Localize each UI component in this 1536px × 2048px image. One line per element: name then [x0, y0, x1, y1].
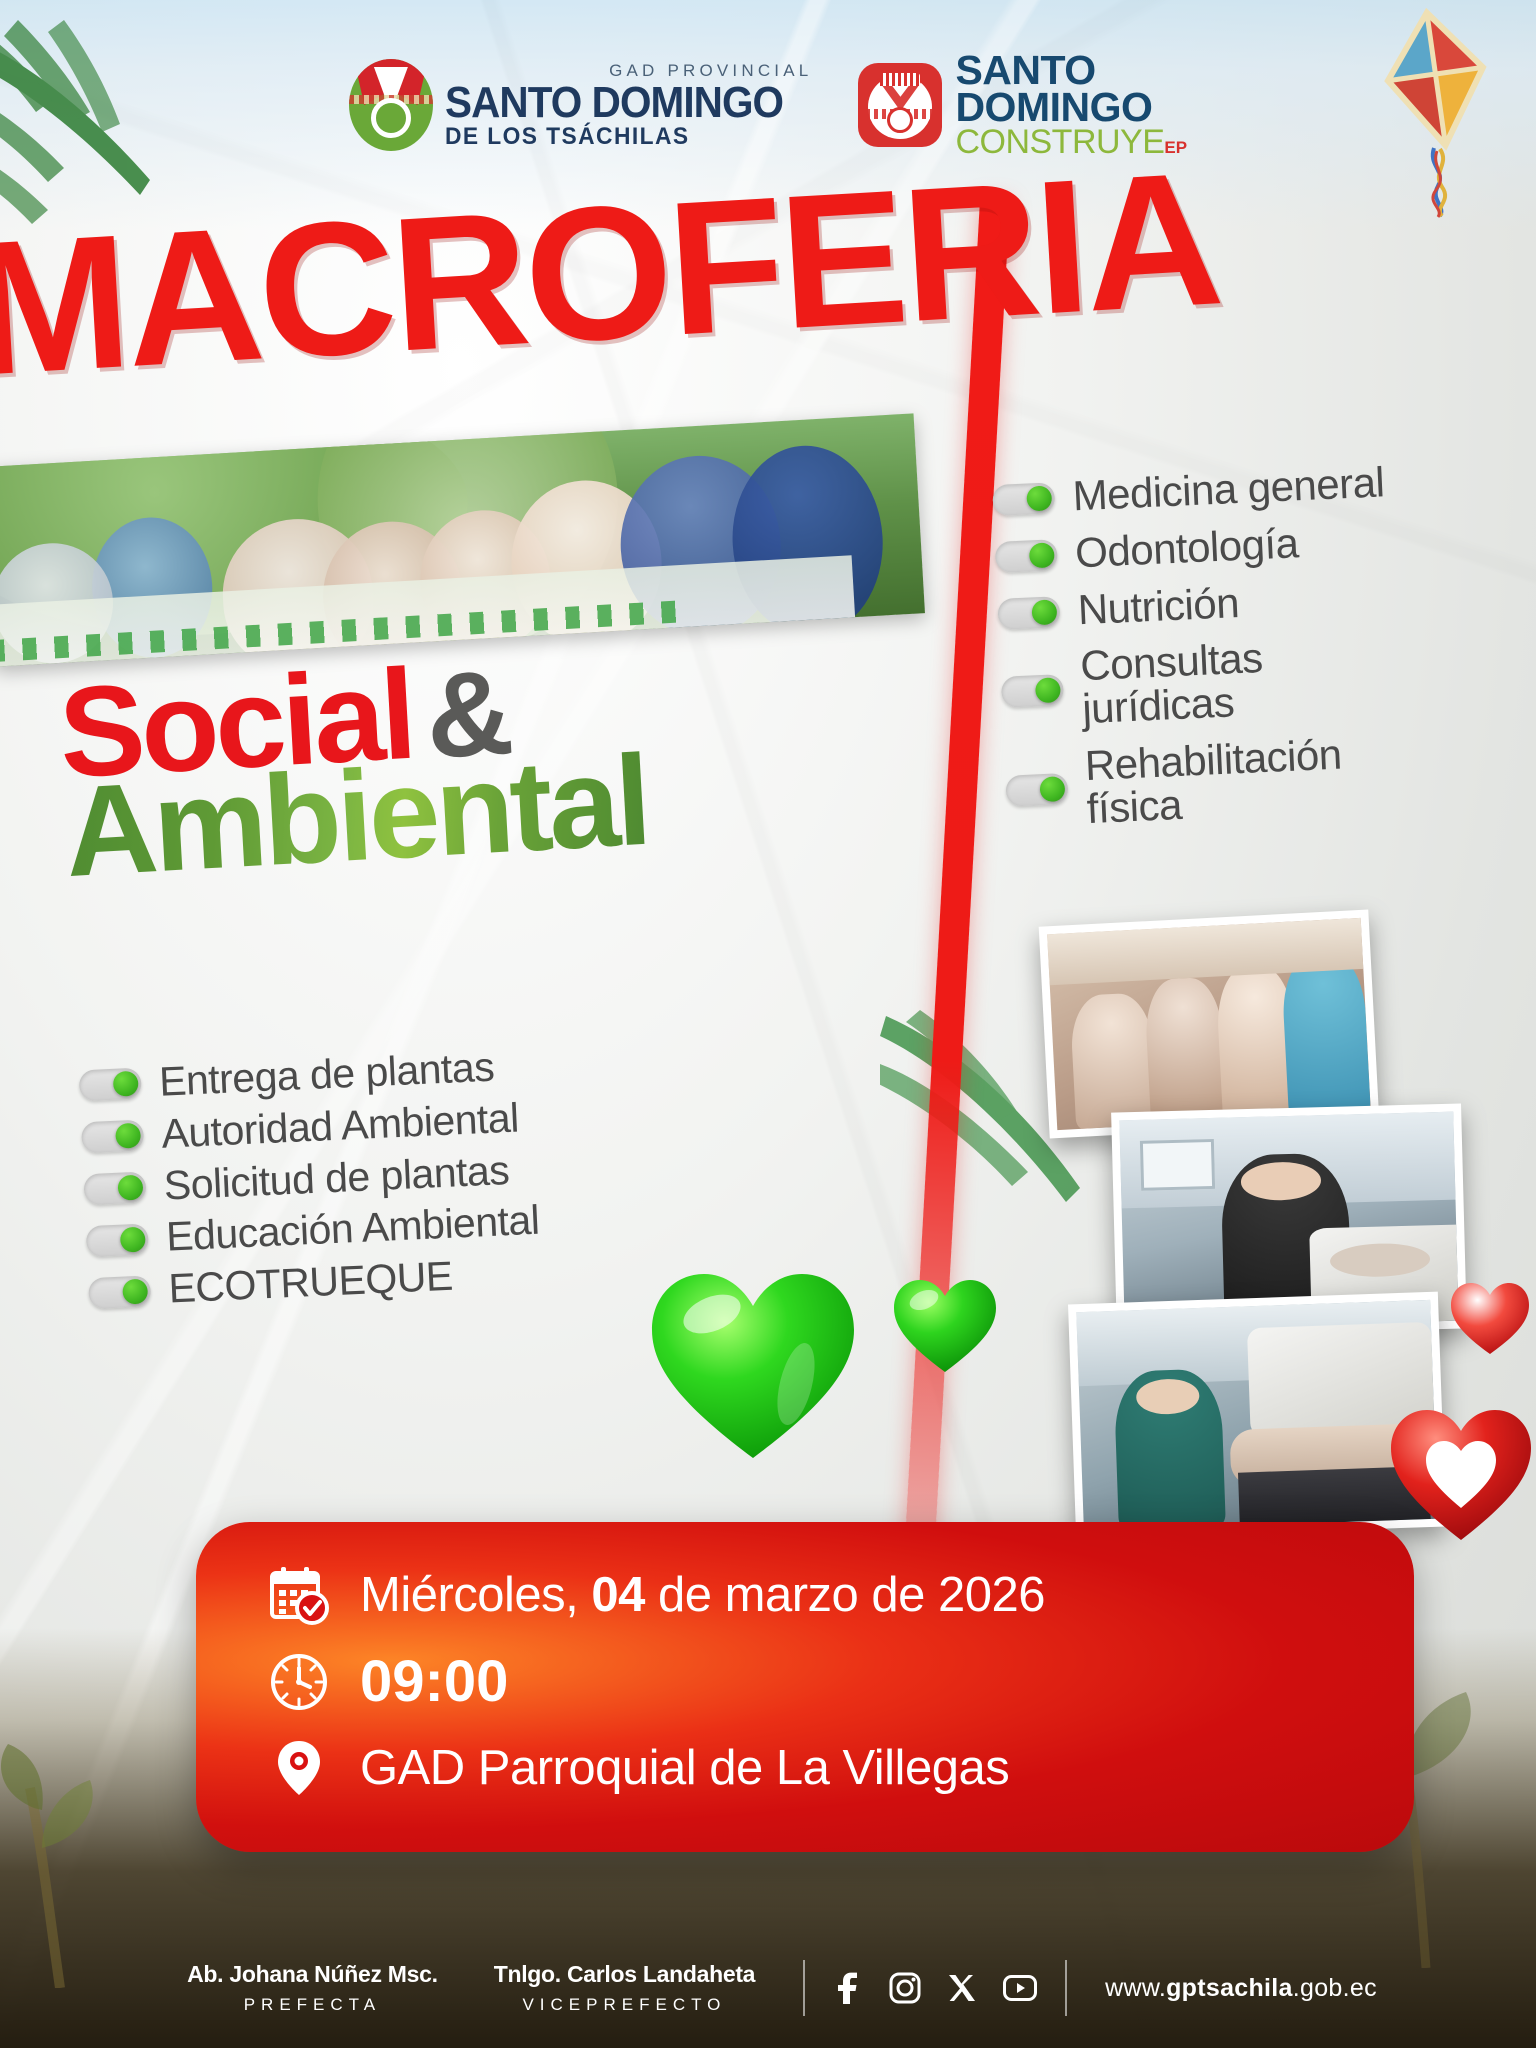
- toggle-switch-on-icon[interactable]: [81, 1120, 144, 1154]
- service-label: Medicina general: [1072, 461, 1385, 518]
- event-date-row: Miércoles, 04 de marzo de 2026: [268, 1564, 1414, 1626]
- green-heart-small-icon: [890, 1276, 1000, 1376]
- sdc-line2: DOMINGO: [955, 89, 1187, 127]
- footer-social-icons: [825, 1972, 1045, 2004]
- subtitle-ambiental: Ambiental: [62, 743, 650, 891]
- sdc-ep-suffix: EP: [1164, 138, 1187, 157]
- sdc-line3: CONSTRUYE: [955, 123, 1164, 161]
- toggle-switch-on-icon[interactable]: [88, 1275, 151, 1309]
- header-logos: GAD PROVINCIAL SANTO DOMINGO DE LOS TSÁC…: [0, 50, 1536, 160]
- event-location-row: GAD Parroquial de La Villegas: [268, 1737, 1414, 1799]
- url-domain: gptsachila: [1166, 1974, 1293, 2002]
- red-white-heart-icon: [1386, 1404, 1536, 1546]
- list-item[interactable]: Odontología: [994, 518, 1387, 579]
- footer-prefecta: Ab. Johana Núñez Msc. PREFECTA: [159, 1961, 466, 2015]
- youtube-icon[interactable]: [1003, 1975, 1037, 2001]
- facebook-icon[interactable]: [833, 1972, 863, 2004]
- event-date-text: Miércoles, 04 de marzo de 2026: [360, 1567, 1045, 1623]
- list-item[interactable]: Consultas jurídicas: [1000, 632, 1395, 735]
- toggle-switch-on-icon[interactable]: [79, 1068, 142, 1102]
- green-heart-large-icon: [646, 1266, 861, 1466]
- photo-card-seniors: [1039, 910, 1380, 1139]
- environmental-services-list: Entrega de plantas Autoridad Ambiental S…: [78, 1045, 543, 1324]
- date-day: 04: [591, 1568, 645, 1622]
- date-prefix: Miércoles,: [360, 1568, 591, 1622]
- prefecta-role: PREFECTA: [187, 1995, 438, 2015]
- gad-subtitle: GAD PROVINCIAL: [445, 62, 813, 79]
- footer-website-url[interactable]: www.gptsachila.gob.ec: [1087, 1974, 1377, 2003]
- list-item[interactable]: ECOTRUEQUE: [88, 1252, 543, 1314]
- clock-icon: [268, 1651, 330, 1713]
- service-label: Autoridad Ambiental: [161, 1097, 520, 1155]
- footer-divider: [803, 1960, 805, 2016]
- footer-divider-2: [1065, 1960, 1067, 2016]
- viceprefecto-role: VICEPREFECTO: [494, 1995, 755, 2015]
- toggle-switch-on-icon[interactable]: [83, 1172, 146, 1206]
- map-pin-icon: [268, 1737, 330, 1799]
- gad-title-line2: DE LOS TSÁCHILAS: [445, 125, 794, 149]
- gad-title-line1: SANTO DOMINGO: [445, 81, 783, 125]
- footer-bar: Ab. Johana Núñez Msc. PREFECTA Tnlgo. Ca…: [0, 1928, 1536, 2048]
- event-time-text: 09:00: [360, 1648, 508, 1715]
- viceprefecto-name: Tnlgo. Carlos Landaheta: [494, 1961, 755, 1988]
- santo-domingo-shield-icon: [349, 59, 433, 151]
- logo-santo-domingo-construye: SANTO DOMINGO CONSTRUYEEP: [858, 52, 1187, 159]
- service-label: Nutrición: [1077, 582, 1240, 632]
- date-suffix: de marzo de 2026: [645, 1568, 1045, 1622]
- prefecta-name: Ab. Johana Núñez Msc.: [187, 1961, 438, 1988]
- event-time-row: 09:00: [268, 1648, 1414, 1715]
- url-www: www.: [1105, 1974, 1166, 2002]
- list-item[interactable]: Medicina general: [992, 461, 1385, 522]
- list-item[interactable]: Educación Ambiental: [85, 1200, 540, 1262]
- toggle-switch-on-icon[interactable]: [997, 596, 1060, 630]
- red-diagonal-divider: [902, 199, 1010, 1589]
- toggle-switch-on-icon[interactable]: [992, 482, 1055, 516]
- url-tld: .gob.ec: [1293, 1974, 1377, 2002]
- service-label: Solicitud de plantas: [163, 1150, 510, 1207]
- list-item[interactable]: Rehabilitación física: [1004, 731, 1399, 834]
- toggle-switch-on-icon[interactable]: [1005, 773, 1068, 807]
- toggle-switch-on-icon[interactable]: [86, 1223, 149, 1257]
- footer-viceprefecto: Tnlgo. Carlos Landaheta VICEPREFECTO: [466, 1961, 783, 2015]
- instagram-icon[interactable]: [889, 1972, 921, 2004]
- subtitle-block: Social & Ambiental: [56, 644, 650, 891]
- toggle-switch-on-icon[interactable]: [1001, 674, 1064, 708]
- calendar-check-icon: [268, 1564, 330, 1626]
- service-label: Odontología: [1074, 522, 1299, 575]
- service-label: Entrega de plantas: [158, 1047, 495, 1104]
- logo-gad-provincial: GAD PROVINCIAL SANTO DOMINGO DE LOS TSÁC…: [349, 59, 813, 151]
- service-label: Consultas jurídicas: [1079, 637, 1265, 731]
- service-label: Rehabilitación física: [1084, 734, 1344, 831]
- event-location-text: GAD Parroquial de La Villegas: [360, 1740, 1009, 1796]
- event-info-card: Miércoles, 04 de marzo de 2026 09:00: [196, 1522, 1414, 1852]
- red-heart-small-icon: [1448, 1280, 1532, 1358]
- poster-root: GAD PROVINCIAL SANTO DOMINGO DE LOS TSÁC…: [0, 0, 1536, 2048]
- santo-domingo-construye-mark-icon: [858, 63, 942, 147]
- toggle-switch-on-icon[interactable]: [995, 539, 1058, 573]
- list-item[interactable]: Nutrición: [997, 575, 1390, 636]
- health-services-list: Medicina general Odontología Nutrición C…: [992, 461, 1400, 848]
- x-twitter-icon[interactable]: [947, 1973, 977, 2003]
- service-label: Educación Ambiental: [165, 1200, 540, 1259]
- service-label: ECOTRUEQUE: [168, 1256, 454, 1311]
